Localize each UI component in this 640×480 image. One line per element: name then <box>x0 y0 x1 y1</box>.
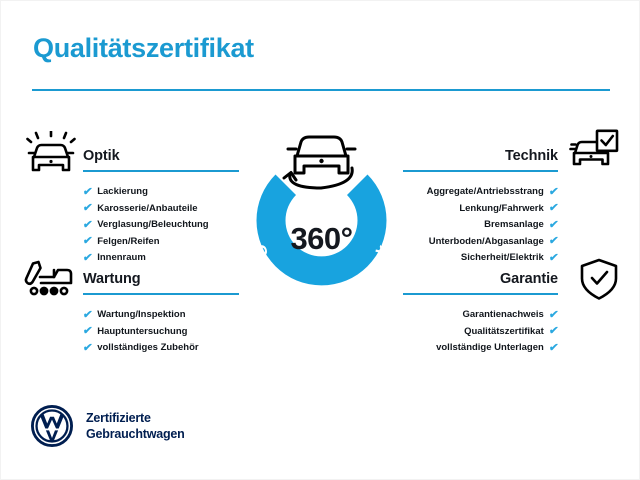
check-icon: ✔ <box>548 220 559 231</box>
check-icon: ✔ <box>548 253 559 264</box>
volkswagen-lockup: Zertifizierte Gebrauchtwagen <box>31 405 185 447</box>
list-item-label: Garantienachweis <box>462 307 543 324</box>
check-icon: ✔ <box>82 220 93 231</box>
section-garantie: Garantie Garantienachweis ✔ Qualitätszer… <box>404 269 558 373</box>
check-icon: ✔ <box>548 187 559 198</box>
car-rotate-360-icon <box>284 137 355 188</box>
volkswagen-logo <box>31 405 73 447</box>
list-item-label: Qualitätszertifikat <box>464 324 544 341</box>
certificate-page: Qualitätszertifikat Optik ✔ Lackierun <box>0 0 640 480</box>
list-item: Unterboden/Abgasanlage ✔ <box>404 234 558 251</box>
check-icon: ✔ <box>82 203 93 214</box>
checklist-technik: Aggregate/Antriebsstrang ✔ Lenkung/Fahrw… <box>404 184 558 267</box>
list-item: Garantienachweis ✔ <box>404 307 558 324</box>
title-divider <box>32 89 610 91</box>
section-divider-garantie <box>404 293 558 295</box>
list-item: vollständige Unterlagen ✔ <box>404 340 558 357</box>
list-item: ✔ Felgen/Reifen <box>83 234 237 251</box>
section-wartung: Wartung ✔ Wartung/Inspektion ✔ Hauptunte… <box>83 269 237 373</box>
list-item-label: Bremsanlage <box>484 217 544 234</box>
check-icon: ✔ <box>548 343 559 354</box>
section-divider-wartung <box>83 293 237 295</box>
360-gebrauchtwagen-check-badge: Gebrauchtwagen-Check 360° <box>234 116 409 311</box>
check-icon: ✔ <box>548 236 559 247</box>
check-icon: ✔ <box>82 326 93 337</box>
section-divider-optik <box>83 170 237 172</box>
list-item: ✔ Karosserie/Anbauteile <box>83 201 237 218</box>
list-item: ✔ Lackierung <box>83 184 237 201</box>
checklist-optik: ✔ Lackierung ✔ Karosserie/Anbauteile ✔ V… <box>83 184 237 267</box>
section-title-garantie: Garantie <box>404 269 558 289</box>
section-technik: Technik Aggregate/Antriebsstrang ✔ Lenku… <box>404 146 558 283</box>
section-optik: Optik ✔ Lackierung ✔ Karosserie/Anbautei… <box>83 146 237 283</box>
check-icon: ✔ <box>82 187 93 198</box>
list-item: ✔ Innenraum <box>83 250 237 267</box>
shield-check-icon <box>573 257 625 303</box>
checklist-wartung: ✔ Wartung/Inspektion ✔ Hauptuntersuchung… <box>83 307 237 357</box>
list-item-label: vollständige Unterlagen <box>436 340 544 357</box>
list-item: Lenkung/Fahrwerk ✔ <box>404 201 558 218</box>
list-item-label: Hauptuntersuchung <box>97 324 187 341</box>
list-item-label: Wartung/Inspektion <box>97 307 185 324</box>
check-icon: ✔ <box>548 203 559 214</box>
section-divider-technik <box>404 170 558 172</box>
list-item-label: Sicherheit/Elektrik <box>461 250 544 267</box>
page-title: Qualitätszertifikat <box>33 33 254 64</box>
badge-center-label: 360° <box>234 221 409 257</box>
list-item-label: Unterboden/Abgasanlage <box>429 234 544 251</box>
list-item: Aggregate/Antriebsstrang ✔ <box>404 184 558 201</box>
list-item: ✔ vollständiges Zubehör <box>83 340 237 357</box>
section-title-wartung: Wartung <box>83 269 237 289</box>
brand-text: Zertifizierte Gebrauchtwagen <box>86 410 185 442</box>
list-item-label: Verglasung/Beleuchtung <box>97 217 208 234</box>
list-item-label: Innenraum <box>97 250 146 267</box>
checklist-garantie: Garantienachweis ✔ Qualitätszertifikat ✔… <box>404 307 558 357</box>
section-title-technik: Technik <box>404 146 558 166</box>
check-icon: ✔ <box>82 236 93 247</box>
brand-line-2: Gebrauchtwagen <box>86 426 185 442</box>
check-icon: ✔ <box>548 310 559 321</box>
car-checkbox-icon <box>567 129 619 175</box>
list-item: Sicherheit/Elektrik ✔ <box>404 250 558 267</box>
list-item-label: Lackierung <box>97 184 148 201</box>
list-item-label: vollständiges Zubehör <box>97 340 198 357</box>
list-item: ✔ Hauptuntersuchung <box>83 324 237 341</box>
check-icon: ✔ <box>82 253 93 264</box>
list-item: ✔ Verglasung/Beleuchtung <box>83 217 237 234</box>
car-shine-icon <box>25 131 77 177</box>
list-item: ✔ Wartung/Inspektion <box>83 307 237 324</box>
list-item-label: Karosserie/Anbauteile <box>97 201 197 218</box>
section-title-optik: Optik <box>83 146 237 166</box>
list-item-label: Aggregate/Antriebsstrang <box>427 184 544 201</box>
list-item-label: Lenkung/Fahrwerk <box>459 201 543 218</box>
check-icon: ✔ <box>82 310 93 321</box>
list-item: Qualitätszertifikat ✔ <box>404 324 558 341</box>
list-item: Bremsanlage ✔ <box>404 217 558 234</box>
wrench-car-service-icon <box>23 259 75 305</box>
check-icon: ✔ <box>548 326 559 337</box>
list-item-label: Felgen/Reifen <box>97 234 159 251</box>
brand-line-1: Zertifizierte <box>86 410 185 426</box>
check-icon: ✔ <box>82 343 93 354</box>
